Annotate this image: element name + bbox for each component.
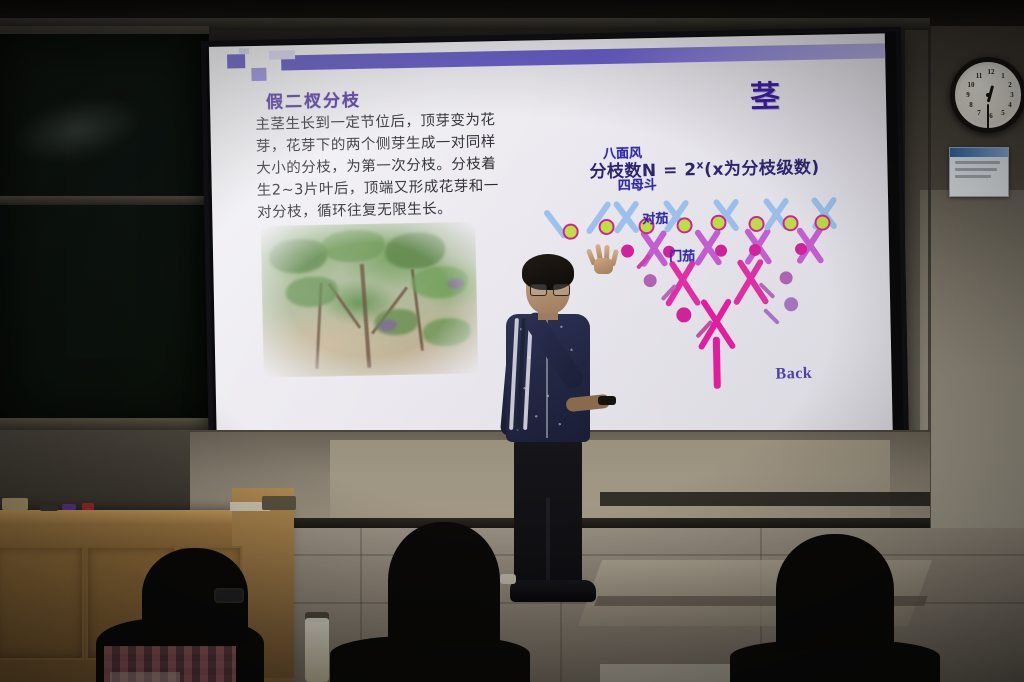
presenter-remote: [598, 396, 616, 405]
presenter-leg-gap: [546, 498, 550, 588]
clock-minute-hand: [987, 104, 989, 130]
clock-center-pin: [986, 93, 990, 97]
photo-leaf: [286, 276, 339, 307]
audience-glasses: [214, 588, 244, 603]
presenter-shoe-right: [544, 580, 596, 602]
audience-member-right: [776, 534, 894, 650]
diagram-label-simudou: 四母斗: [618, 174, 657, 194]
slide-body-line-5: 对分枝，循环往复无限生长。: [257, 196, 557, 224]
notice-header-bar: [950, 148, 1008, 157]
audience-papers: [600, 664, 730, 682]
slide-body-text: 主茎生长到一定节位后，顶芽变为花 芽，花芽下的两个侧芽生成一对同样 大小的分枝，…: [255, 108, 557, 224]
back-link[interactable]: Back: [775, 365, 812, 384]
bud-node-menqie: [676, 307, 691, 322]
desk-item-marker: [40, 505, 58, 511]
blackboard-glare: [7, 87, 147, 173]
apex-node: [676, 217, 692, 233]
slide-deco-square-2: [251, 68, 266, 81]
photo-leaf: [422, 318, 471, 347]
palm: [594, 258, 613, 274]
diagram-label-duiqie: 对茄: [642, 208, 668, 228]
clock-numeral: 2: [1005, 81, 1015, 89]
presenter-sock: [500, 574, 516, 584]
bud-node-simudou: [715, 245, 727, 257]
audience-papers: [110, 672, 180, 682]
photo-leaf: [321, 229, 386, 262]
clock-numeral: 3: [1007, 91, 1017, 99]
desk-item-box: [2, 498, 28, 510]
photo-leaf: [269, 239, 328, 274]
clock-numeral: 5: [998, 109, 1008, 117]
bud-node: [784, 297, 798, 311]
clock-numeral: 4: [1005, 101, 1015, 109]
presenter: [494, 248, 624, 658]
bud-node-duiqie: [779, 271, 792, 284]
slide-title: 假二杈分枝: [266, 86, 361, 113]
apex-node: [562, 224, 578, 240]
baseboard: [600, 492, 930, 506]
desk-item-marker: [82, 503, 94, 510]
eggplant-field-photo: [260, 222, 478, 378]
clock-face: 12 1 2 3 4 5 6 7 8 9 10 11: [958, 65, 1018, 125]
apex-node: [710, 215, 726, 231]
wall-clock: 12 1 2 3 4 5 6 7 8 9 10 11: [950, 57, 1024, 133]
clock-numeral: 8: [966, 101, 976, 109]
slide-header-bar: [281, 43, 889, 70]
formula-suffix: (x为分枝级数): [704, 158, 820, 180]
water-bottle: [305, 618, 329, 682]
presenter-glasses: [530, 284, 568, 294]
clock-numeral: 1: [998, 72, 1008, 80]
clock-numeral: 11: [974, 72, 984, 80]
diagram-label-menqie: 门茄: [669, 245, 695, 265]
clock-numeral: 12: [986, 68, 996, 76]
clock-numeral: 9: [963, 91, 973, 99]
presenter-pointing-hand: [590, 244, 616, 274]
branch-trunk: [713, 337, 721, 389]
wall-notice-sign: [949, 147, 1009, 197]
desk-panel: [0, 546, 84, 660]
diagram-label-bamianfeng: 八面风: [603, 142, 642, 162]
slide-section-title: 茎: [699, 70, 830, 117]
desk-item-marker: [62, 504, 76, 510]
bud-stalk: [763, 308, 780, 325]
audience-member-center: [388, 522, 500, 644]
photo-leaf: [385, 232, 446, 269]
clock-numeral: 7: [974, 109, 984, 117]
blackboard: [0, 30, 209, 430]
slide-deco-square-4: [239, 48, 249, 54]
apex-node: [748, 216, 764, 232]
desk-item-device: [262, 496, 296, 510]
blackboard-divider-rail: [0, 196, 209, 205]
slide-deco-square-3: [269, 50, 295, 60]
apex-node: [814, 214, 830, 230]
photo-stem: [360, 264, 372, 368]
right-wall-lit-area: [920, 190, 1024, 570]
bud-node-duiqie: [644, 274, 657, 287]
slide-deco-square-1: [227, 54, 245, 68]
apex-node: [598, 219, 614, 235]
notice-text-lines: [955, 161, 1004, 182]
classroom-scene: 假二杈分枝 主茎生长到一定节位后，顶芽变为花 芽，花芽下的两个侧芽生成一对同样 …: [0, 0, 1024, 682]
blackboard-top-frame: [0, 26, 209, 34]
clock-numeral: 10: [966, 81, 976, 89]
